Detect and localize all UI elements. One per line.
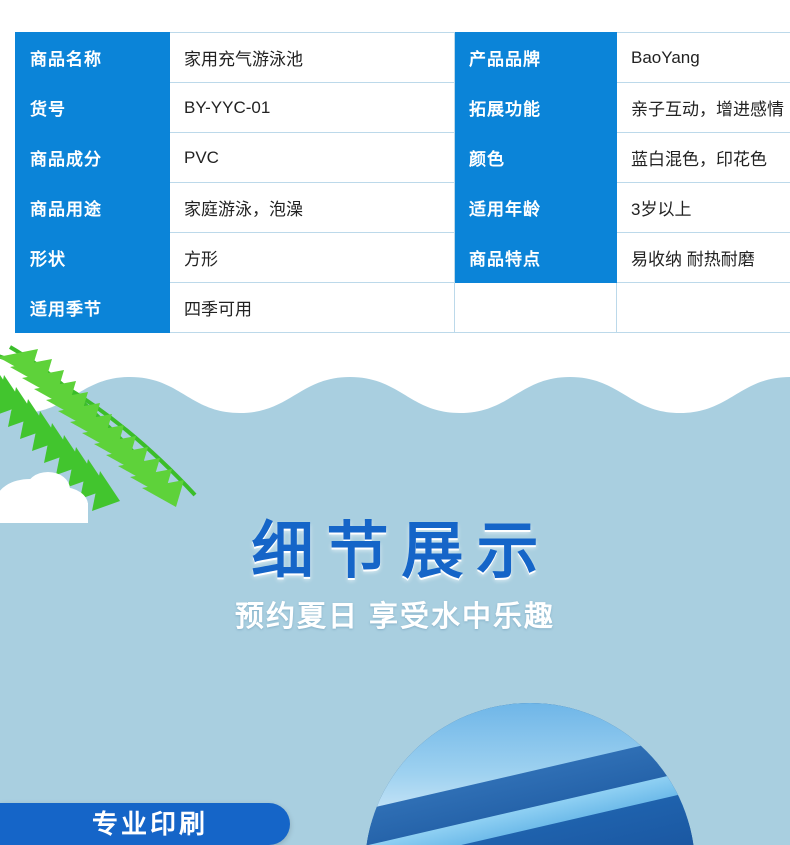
- table-row: 形状 方形 商品特点 易收纳 耐热耐磨: [16, 233, 790, 283]
- spec-label-empty: [455, 283, 617, 333]
- badge-professional-printing: 专业印刷: [0, 803, 290, 845]
- spec-label: 货号: [16, 83, 170, 133]
- banner-subhead: 预约夏日 享受水中乐趣: [0, 593, 790, 635]
- table-row: 商品名称 家用充气游泳池 产品品牌 BaoYang: [16, 33, 790, 83]
- detail-banner: 细节展示 预约夏日 享受水中乐趣: [0, 345, 790, 845]
- spec-value: BY-YYC-01: [170, 83, 455, 133]
- spec-value: 亲子互动，增进感情: [617, 83, 790, 133]
- spec-value: 四季可用: [170, 283, 455, 333]
- spec-value: 蓝白混色，印花色: [617, 133, 790, 183]
- spec-label: 适用季节: [16, 283, 170, 333]
- spec-label: 拓展功能: [455, 83, 617, 133]
- spec-value: PVC: [170, 133, 455, 183]
- spec-value: 方形: [170, 233, 455, 283]
- spec-label: 适用年龄: [455, 183, 617, 233]
- spec-value: 家庭游泳，泡澡: [170, 183, 455, 233]
- spec-label: 商品用途: [16, 183, 170, 233]
- spec-value: 3岁以上: [617, 183, 790, 233]
- product-photo-circle: [365, 703, 695, 845]
- spec-label: 商品名称: [16, 33, 170, 83]
- table-row: 商品用途 家庭游泳，泡澡 适用年龄 3岁以上: [16, 183, 790, 233]
- spec-value-empty: [617, 283, 790, 333]
- spec-label: 产品品牌: [455, 33, 617, 83]
- spec-label: 商品成分: [16, 133, 170, 183]
- spec-table: 商品名称 家用充气游泳池 产品品牌 BaoYang 货号 BY-YYC-01 拓…: [15, 32, 790, 333]
- badge-label: 专业印刷: [0, 803, 290, 845]
- spec-value: BaoYang: [617, 33, 790, 83]
- table-row: 适用季节 四季可用: [16, 283, 790, 333]
- table-row: 商品成分 PVC 颜色 蓝白混色，印花色: [16, 133, 790, 183]
- table-row: 货号 BY-YYC-01 拓展功能 亲子互动，增进感情: [16, 83, 790, 133]
- spec-label: 颜色: [455, 133, 617, 183]
- spec-label: 商品特点: [455, 233, 617, 283]
- banner-headline: 细节展示: [0, 500, 790, 590]
- spec-value: 易收纳 耐热耐磨: [617, 233, 790, 283]
- spec-label: 形状: [16, 233, 170, 283]
- spec-table-body: 商品名称 家用充气游泳池 产品品牌 BaoYang 货号 BY-YYC-01 拓…: [16, 33, 790, 333]
- spec-table-container: 商品名称 家用充气游泳池 产品品牌 BaoYang 货号 BY-YYC-01 拓…: [15, 32, 773, 344]
- spec-value: 家用充气游泳池: [170, 33, 455, 83]
